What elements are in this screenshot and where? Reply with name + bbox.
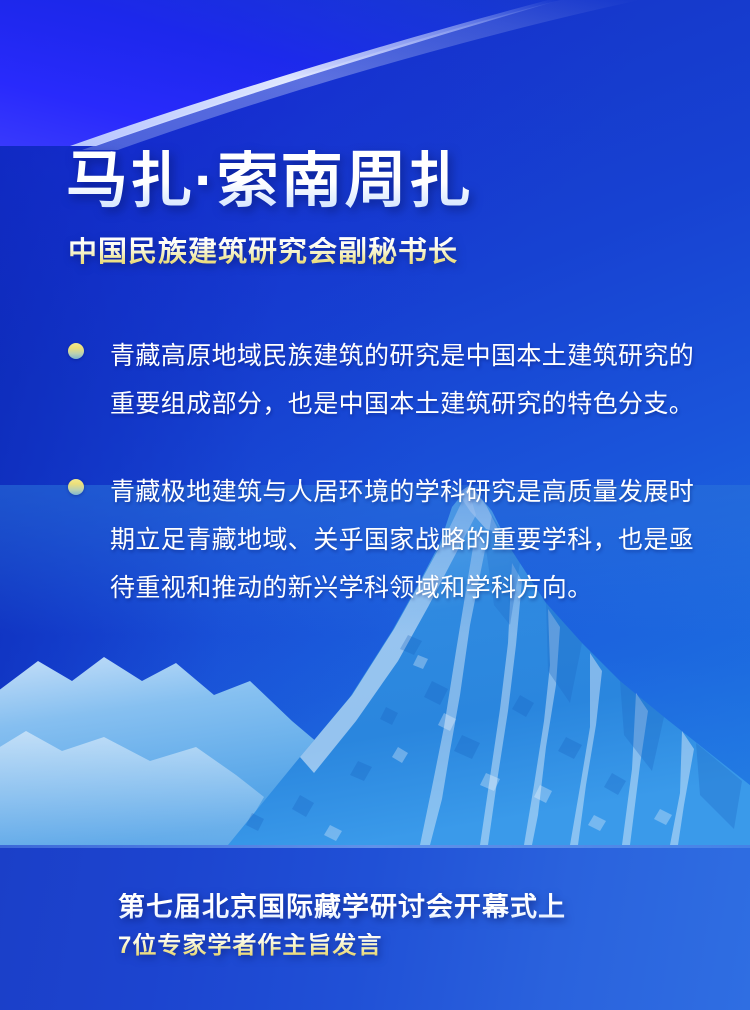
list-item: 青藏极地建筑与人居环境的学科研究是高质量发展时期立足青藏地域、关乎国家战略的重要…: [66, 468, 696, 612]
speaker-role: 中国民族建筑研究会副秘书长: [68, 237, 458, 269]
footer-band: [0, 845, 750, 1010]
page-title: 马扎·索南周扎: [66, 150, 473, 212]
bullet-list: 青藏高原地域民族建筑的研究是中国本土建筑研究的重要组成部分，也是中国本土建筑研究…: [66, 332, 696, 652]
bullet-text: 青藏极地建筑与人居环境的学科研究是高质量发展时期立足青藏地域、关乎国家战略的重要…: [110, 468, 696, 612]
footer-event-title: 第七届北京国际藏学研讨会开幕式上: [118, 893, 566, 923]
bullet-text: 青藏高原地域民族建筑的研究是中国本土建筑研究的重要组成部分，也是中国本土建筑研究…: [110, 332, 696, 428]
list-item: 青藏高原地域民族建筑的研究是中国本土建筑研究的重要组成部分，也是中国本土建筑研究…: [66, 332, 696, 428]
poster-canvas: 马扎·索南周扎 中国民族建筑研究会副秘书长 青藏高原地域民族建筑的研究是中国本土…: [0, 0, 750, 1010]
bullet-dot-icon: [68, 479, 84, 495]
bullet-dot-icon: [68, 343, 84, 359]
footer-event-subtitle: 7位专家学者作主旨发言: [118, 933, 382, 959]
